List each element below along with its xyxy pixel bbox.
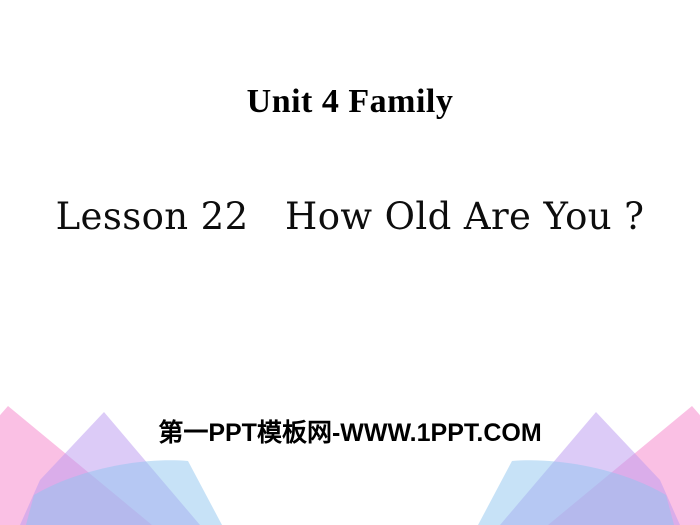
lesson-subtitle: Lesson 22 How Old Are You ? — [0, 194, 700, 240]
slide-canvas: Unit 4 Family Lesson 22 How Old Are You … — [0, 0, 700, 525]
fan-wedge-blue-left — [26, 460, 222, 525]
site-watermark: 第一PPT模板网-WWW.1PPT.COM — [0, 418, 700, 449]
page-title: Unit 4 Family — [0, 82, 700, 122]
fan-wedge-blue-right — [478, 460, 674, 525]
